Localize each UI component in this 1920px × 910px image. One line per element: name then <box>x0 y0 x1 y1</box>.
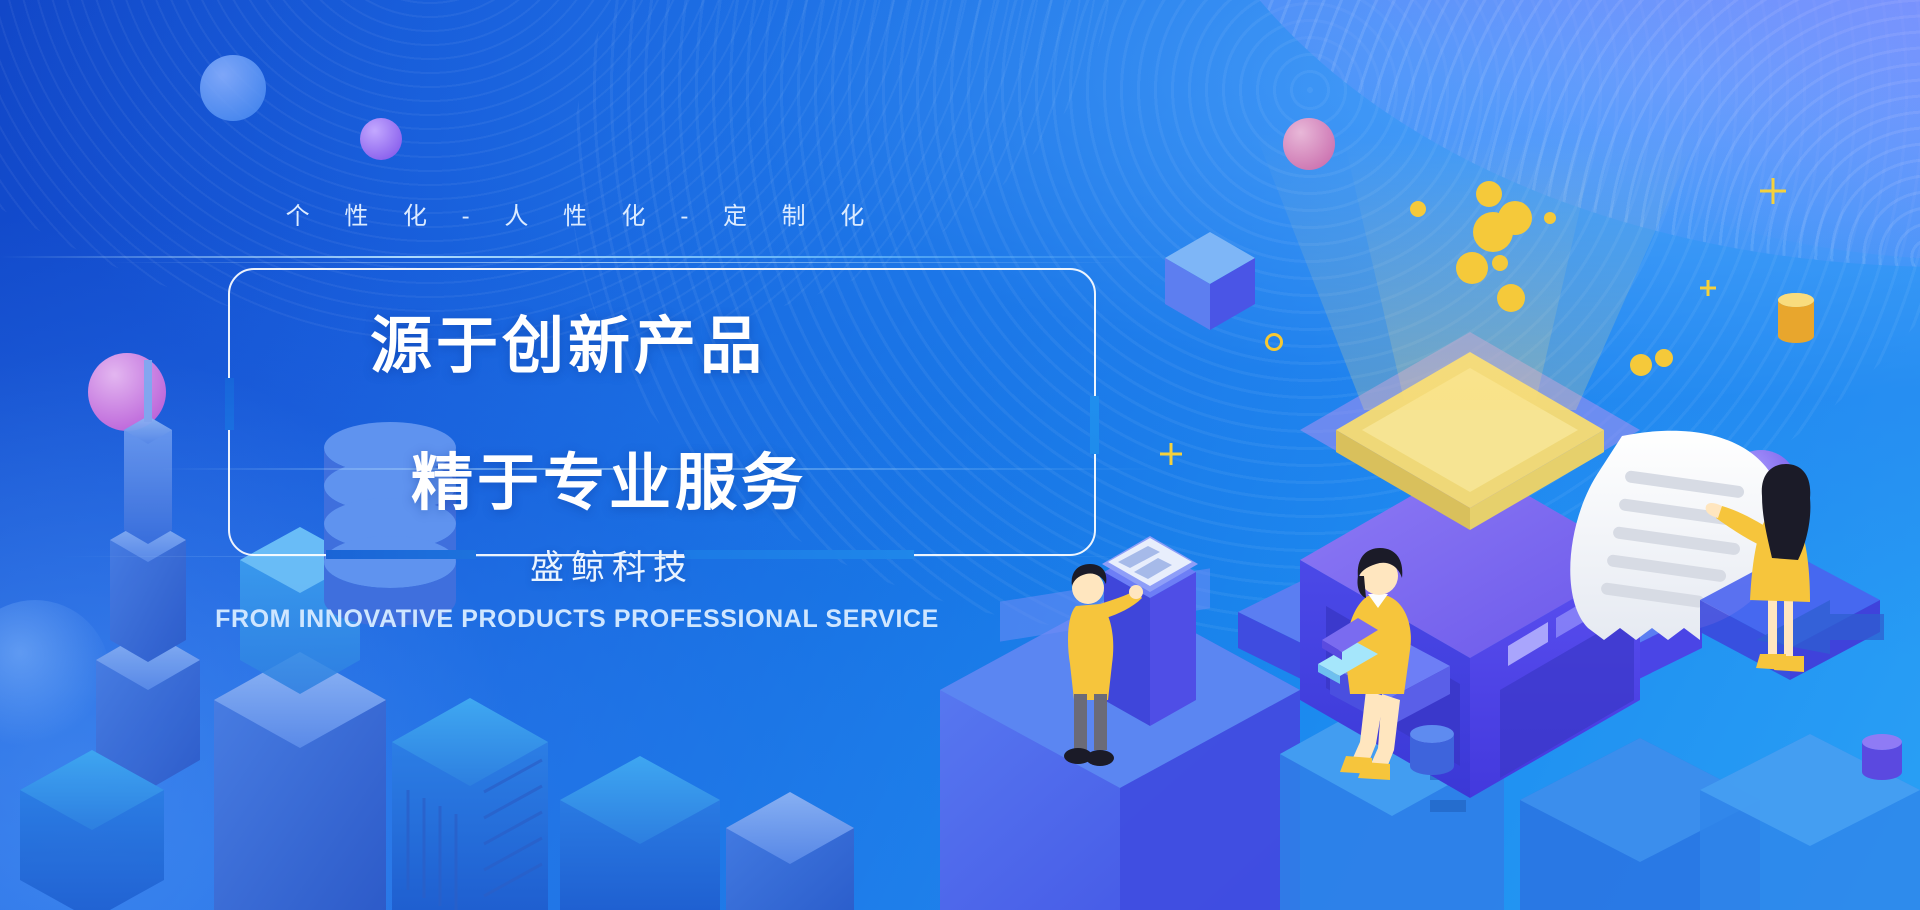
soft-sphere-blue <box>200 55 266 121</box>
plus-mark-icon-left <box>1160 443 1182 465</box>
plus-mark-icon-small <box>1700 280 1716 296</box>
frame-gap-left <box>225 378 234 430</box>
violet-swirl-shape <box>1151 0 1920 380</box>
banner-headline-line-2: 精于专业服务 <box>0 432 1150 522</box>
light-streak-top-thin <box>110 262 1120 263</box>
banner-subtitle-brand: 盛鲸科技 <box>0 540 1150 589</box>
soft-sphere-violet <box>360 118 402 160</box>
isometric-printer-device <box>1238 130 1785 798</box>
banner-english-slogan: FROM INNOVATIVE PRODUCTS PROFESSIONAL SE… <box>0 605 1150 634</box>
light-streak-top <box>0 256 1170 258</box>
seated-woman-with-laptop <box>1318 548 1450 780</box>
soft-sphere-magenta-top <box>1283 118 1335 170</box>
standing-woman-with-paper <box>1700 464 1884 680</box>
plus-mark-icon-right <box>1760 178 1786 204</box>
banner-headline-line-1: 源于创新产品 <box>0 295 1150 385</box>
city-group-center <box>560 756 854 910</box>
yellow-bubble-group <box>1410 181 1673 376</box>
decor-shapes <box>1165 232 1902 780</box>
hero-banner: /* paint gaps with the local background … <box>0 0 1920 910</box>
violet-swirl-shape-secondary <box>1300 0 1920 260</box>
banner-tagline: 个 性 化 - 人 性 化 - 定 制 化 <box>0 196 1150 231</box>
ring-outline-icon <box>1265 333 1283 351</box>
soft-sphere-violet-right <box>1724 450 1798 524</box>
